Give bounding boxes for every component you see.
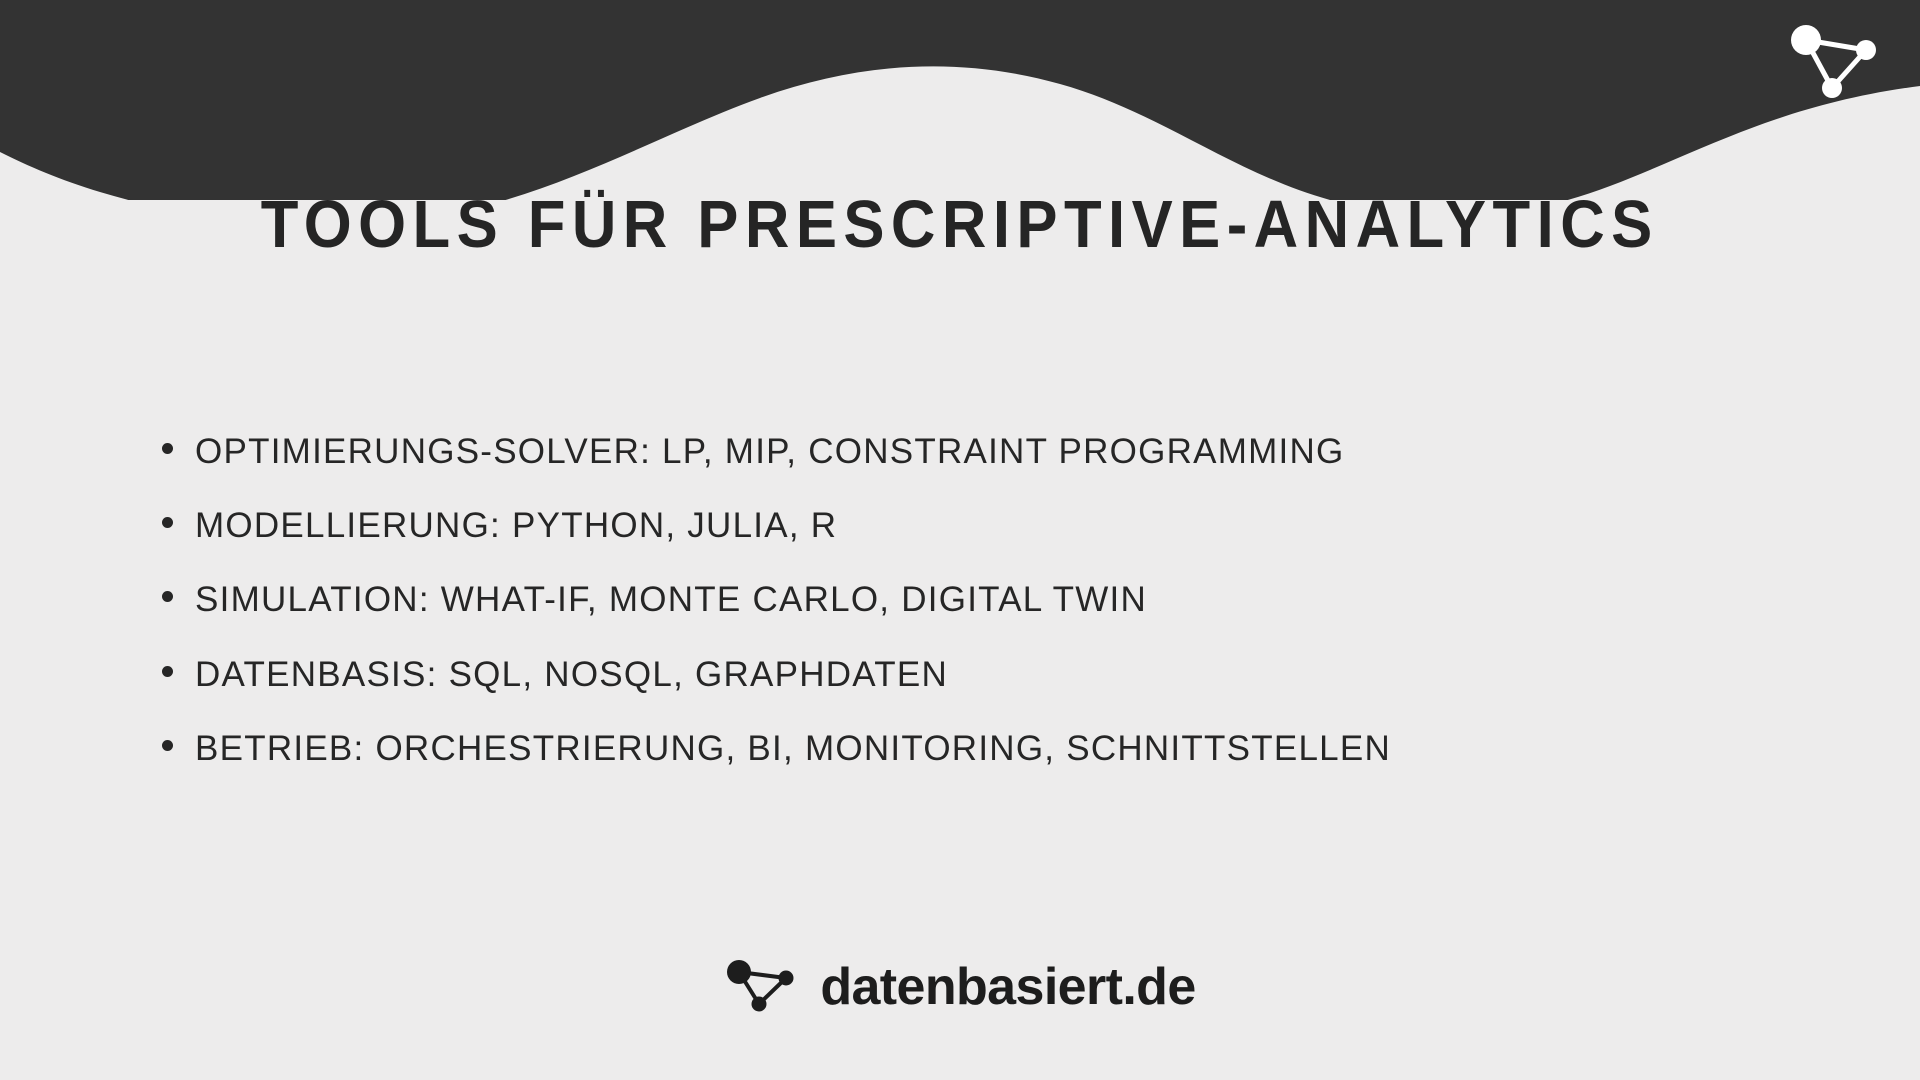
network-triangle-icon bbox=[1782, 18, 1886, 104]
list-item-label: OPTIMIERUNGS-SOLVER: LP, MIP, CONSTRAINT… bbox=[195, 432, 1345, 471]
network-triangle-icon bbox=[724, 958, 802, 1016]
bullet-dot-icon bbox=[162, 740, 173, 751]
list-item-label: DATENBASIS: SQL, NOSQL, GRAPHDATEN bbox=[195, 655, 948, 694]
footer-brand-label: datenbasiert.de bbox=[820, 961, 1195, 1013]
footer-logo-mark bbox=[724, 958, 802, 1016]
list-item: SIMULATION: WHAT-IF, MONTE CARLO, DIGITA… bbox=[162, 580, 1812, 619]
bullet-dot-icon bbox=[162, 517, 173, 528]
corner-logo bbox=[1782, 18, 1886, 104]
bullet-list: OPTIMIERUNGS-SOLVER: LP, MIP, CONSTRAINT… bbox=[162, 432, 1812, 768]
list-item: MODELLIERUNG: PYTHON, JULIA, R bbox=[162, 506, 1812, 545]
list-item: DATENBASIS: SQL, NOSQL, GRAPHDATEN bbox=[162, 655, 1812, 694]
list-item-label: SIMULATION: WHAT-IF, MONTE CARLO, DIGITA… bbox=[195, 580, 1147, 619]
page-title: TOOLS FÜR PRESCRIPTIVE-ANALYTICS bbox=[261, 190, 1659, 260]
list-item: BETRIEB: ORCHESTRIERUNG, BI, MONITORING,… bbox=[162, 729, 1812, 768]
list-item-label: BETRIEB: ORCHESTRIERUNG, BI, MONITORING,… bbox=[195, 729, 1391, 768]
bullet-dot-icon bbox=[162, 666, 173, 677]
list-item-label: MODELLIERUNG: PYTHON, JULIA, R bbox=[195, 506, 837, 545]
bullet-dot-icon bbox=[162, 591, 173, 602]
title-block: TOOLS FÜR PRESCRIPTIVE-ANALYTICS bbox=[0, 190, 1920, 260]
slide-root: TOOLS FÜR PRESCRIPTIVE-ANALYTICS OPTIMIE… bbox=[0, 0, 1920, 1080]
bullet-dot-icon bbox=[162, 443, 173, 454]
footer-brand: datenbasiert.de bbox=[0, 958, 1920, 1016]
list-item: OPTIMIERUNGS-SOLVER: LP, MIP, CONSTRAINT… bbox=[162, 432, 1812, 471]
